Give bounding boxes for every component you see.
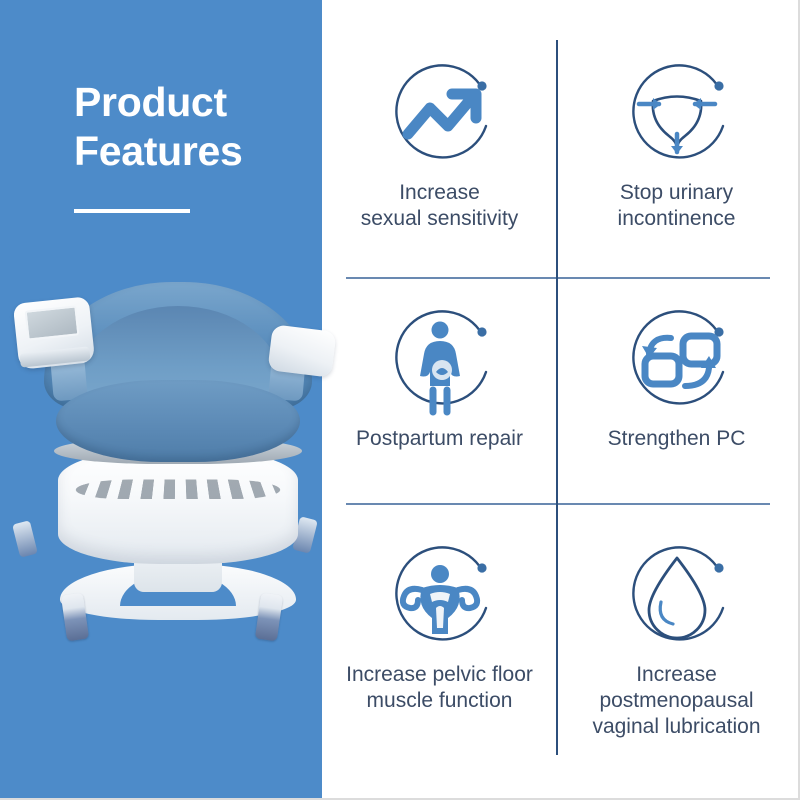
feature-cell-strengthen-pc[interactable]: Strengthen PC <box>559 294 794 452</box>
bladder-arrows-icon <box>615 48 739 172</box>
page-title: Product Features <box>74 78 314 176</box>
title-underline-rule <box>74 209 190 213</box>
feature-label: Strengthen PC <box>608 426 746 452</box>
feature-cell-postpartum-repair[interactable]: Postpartum repair <box>322 294 557 452</box>
trending-up-arrow-icon <box>378 48 502 172</box>
pregnant-woman-icon <box>378 294 502 418</box>
exchange-squares-icon <box>615 294 739 418</box>
feature-cell-increase-sexual-sensitivity[interactable]: Increase sexual sensitivity <box>322 48 557 232</box>
uterus-icon <box>378 530 502 654</box>
page-title-line-2: Features <box>74 127 314 176</box>
feature-label: Stop urinary incontinence <box>618 180 736 232</box>
feature-label: Increase sexual sensitivity <box>361 180 519 232</box>
feature-cell-stop-urinary-incontinence[interactable]: Stop urinary incontinence <box>559 48 794 232</box>
chair-seat-cushion <box>56 380 300 462</box>
chair-touchscreen-display <box>25 305 80 340</box>
page-title-line-1: Product <box>74 78 314 127</box>
grid-divider-horizontal-2 <box>346 503 770 505</box>
chair-vent-slots <box>71 480 284 499</box>
feature-grid: Increase sexual sensitivity Stop urinary… <box>322 0 800 800</box>
grid-divider-horizontal-1 <box>346 277 770 279</box>
feature-label: Increase pelvic floor muscle function <box>346 662 533 714</box>
feature-label: Increase postmenopausal vaginal lubricat… <box>592 662 760 740</box>
feature-label: Postpartum repair <box>356 426 523 452</box>
caster-rear-left <box>12 520 38 557</box>
chair-drum-housing <box>58 448 298 564</box>
water-droplet-icon <box>615 530 739 654</box>
feature-cell-increase-pelvic-floor-muscle-function[interactable]: Increase pelvic floor muscle function <box>322 530 557 714</box>
feature-cell-increase-postmenopausal-vaginal-lubrication[interactable]: Increase postmenopausal vaginal lubricat… <box>559 530 794 740</box>
product-image-therapy-chair <box>8 272 328 662</box>
product-features-infographic: Product Features <box>0 0 800 800</box>
